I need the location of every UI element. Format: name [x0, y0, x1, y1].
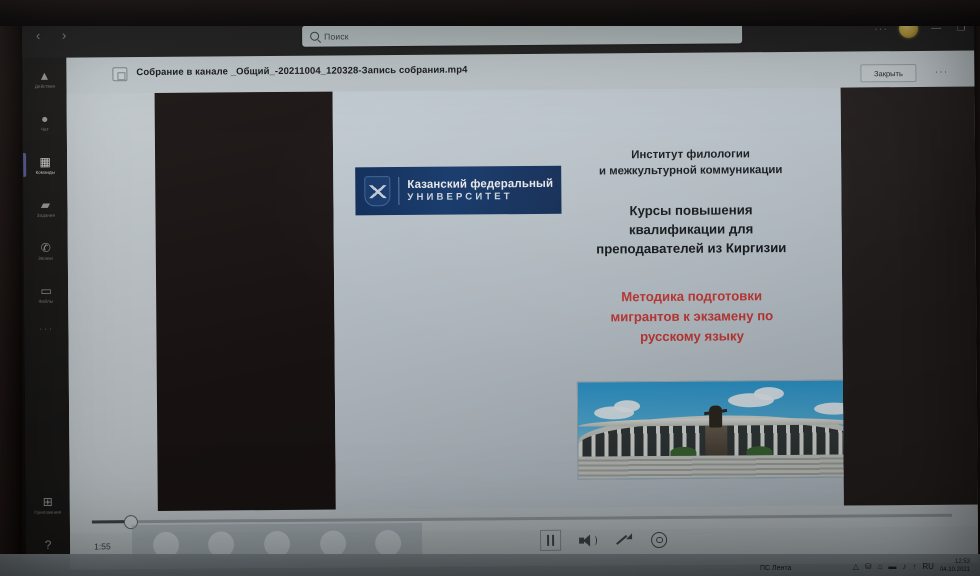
slide-subtitle-line1: Курсы повышения	[548, 200, 833, 221]
monitor-bezel-left	[0, 0, 22, 576]
current-time: 1:55	[94, 541, 111, 551]
phone-icon: ✆	[41, 242, 51, 255]
slide-topic-line3: русскому языку	[549, 326, 834, 348]
sidebar-item-files[interactable]: ▭ Файлы	[24, 273, 68, 316]
page-title: Собрание в канале _Общий_-20211004_12032…	[136, 65, 467, 79]
sidebar-item-label: Чат	[41, 127, 49, 132]
sidebar-item-label: Команды	[35, 170, 54, 175]
photo-plaza-steps	[578, 454, 843, 478]
video-stage[interactable]: Казанский федеральный УНИВЕРСИТЕТ Инстит…	[67, 87, 978, 534]
teams-window: ‹ › Поиск ··· — ❐ ▲ Действия ● Чат	[22, 15, 978, 570]
monitor-bezel-top	[0, 0, 980, 26]
forward-button[interactable]: ›	[56, 28, 72, 44]
slide-topic: Методика подготовки мигрантов к экзамену…	[549, 286, 834, 348]
sidebar-item-label: Задания	[36, 213, 54, 218]
help-icon: ?	[45, 539, 52, 552]
assignments-icon: ▰	[41, 199, 50, 212]
slide-subtitle-line2: квалификации для	[549, 219, 834, 240]
volume-wave	[591, 535, 597, 545]
sidebar-item-apps[interactable]: ⊞ Приложения	[26, 484, 70, 527]
tray-icon-volume[interactable]: ♪	[902, 562, 906, 571]
close-button[interactable]: Закрыть	[860, 64, 916, 82]
slide-topic-line1: Методика подготовки	[549, 286, 834, 308]
clock[interactable]: 12:53 04.10.2021	[940, 558, 970, 574]
sidebar-item-teams[interactable]: ▦ Команды	[23, 144, 67, 187]
gear-icon[interactable]	[651, 531, 667, 547]
clock-date: 04.10.2021	[940, 566, 970, 574]
back-button[interactable]: ‹	[30, 28, 46, 44]
kfu-logo-line1: Казанский федеральный	[407, 178, 553, 191]
expand-arrows-icon[interactable]	[615, 532, 633, 548]
taskbar-app-label[interactable]: ПС Лента	[760, 565, 791, 572]
tray-icon-onedrive[interactable]: ⛁	[865, 562, 872, 571]
search-placeholder: Поиск	[324, 31, 349, 41]
letterbox-right	[841, 86, 979, 505]
pause-icon-bar	[547, 535, 549, 546]
kfu-logo: Казанский федеральный УНИВЕРСИТЕТ	[355, 166, 561, 216]
sidebar-item-assignments[interactable]: ▰ Задания	[23, 187, 67, 230]
teams-icon: ▦	[39, 156, 50, 169]
monitor-photo: ‹ › Поиск ··· — ❐ ▲ Действия ● Чат	[0, 0, 980, 576]
system-tray: △ ⛁ ⌂ ▬ ♪ ↑ RU 12:53 04.10.2021	[853, 558, 970, 574]
search-icon	[310, 32, 319, 41]
sidebar-item-label: Звонки	[38, 256, 53, 261]
bell-icon: ▲	[38, 70, 50, 83]
tray-icon-monitor[interactable]: ▬	[888, 562, 896, 571]
search-input[interactable]: Поиск	[302, 22, 742, 46]
video-player-panel: Собрание в канале _Общий_-20211004_12032…	[66, 51, 978, 570]
slide-subtitle-line3: преподавателей из Киргизии	[549, 238, 834, 259]
kfu-shield-icon	[364, 176, 390, 206]
sidebar-item-activity[interactable]: ▲ Действия	[22, 58, 66, 101]
sidebar-item-label: Действия	[34, 84, 54, 89]
tray-icon-network[interactable]: ↑	[912, 562, 916, 571]
letterbox-left	[155, 92, 336, 511]
nav-arrows: ‹ ›	[30, 28, 72, 44]
clock-time: 12:53	[955, 558, 970, 566]
participant-avatar[interactable]	[375, 530, 401, 556]
slide-heading: Институт филологии и межкультурной комму…	[548, 146, 833, 180]
tray-icon-home[interactable]: ⌂	[878, 562, 883, 571]
slide-subtitle: Курсы повышения квалификации для препода…	[548, 200, 833, 259]
tray-icon-up[interactable]: △	[853, 562, 859, 571]
apps-icon: ⊞	[43, 496, 53, 509]
sidebar: ▲ Действия ● Чат ▦ Команды ▰ Задания ✆ З…	[22, 58, 70, 570]
presentation-slide: Казанский федеральный УНИВЕРСИТЕТ Инстит…	[333, 88, 844, 510]
files-icon: ▭	[40, 285, 51, 298]
logo-divider	[398, 177, 399, 205]
video-file-icon	[112, 67, 127, 81]
pause-button[interactable]	[540, 530, 561, 551]
windows-taskbar: ПС Лента △ ⛁ ⌂ ▬ ♪ ↑ RU 12:53 04.10.2021	[0, 554, 980, 576]
sidebar-more-button[interactable]: ···	[24, 316, 68, 342]
volume-icon[interactable]	[579, 533, 597, 547]
kfu-logo-line2: УНИВЕРСИТЕТ	[407, 192, 553, 203]
chat-icon: ●	[41, 113, 48, 126]
monument-statue	[709, 406, 722, 428]
pause-icon-bar	[552, 535, 554, 546]
playback-controls	[540, 529, 667, 551]
sidebar-item-label: Файлы	[39, 299, 54, 304]
slide-photo-monument	[577, 379, 844, 479]
participant-avatar[interactable]	[320, 530, 346, 556]
monument-plinth	[705, 425, 727, 455]
sidebar-item-chat[interactable]: ● Чат	[23, 101, 67, 144]
sidebar-item-calls[interactable]: ✆ Звонки	[24, 230, 68, 273]
slide-heading-line2: и межкультурной коммуникации	[548, 162, 833, 180]
tray-icon-language[interactable]: RU	[922, 562, 934, 571]
sidebar-item-label: Приложения	[34, 510, 61, 515]
kfu-logo-text: Казанский федеральный УНИВЕРСИТЕТ	[407, 178, 553, 203]
header-overflow-button[interactable]: ···	[935, 67, 949, 78]
slide-topic-line2: мигрантов к экзамену по	[549, 306, 834, 328]
